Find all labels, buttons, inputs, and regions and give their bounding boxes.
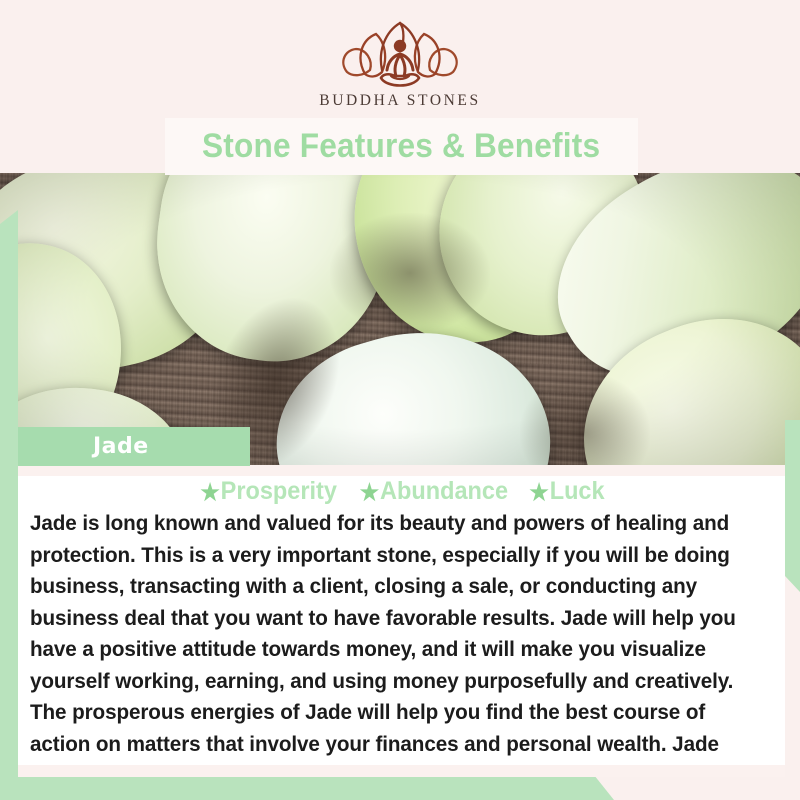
benefit-label-1: Abundance	[380, 477, 508, 505]
stone-name-label: Jade	[93, 434, 149, 459]
decorative-accent-right	[785, 420, 800, 592]
brand-name: BUDDHA STONES	[0, 92, 800, 110]
content-panel: ★Prosperity ★Abundance ★Luck Jade is lon…	[18, 465, 785, 777]
benefits-list: ★Prosperity ★Abundance ★Luck	[18, 477, 785, 506]
benefit-item-1: ★Abundance	[360, 477, 508, 506]
lotus-meditation-icon	[0, 18, 800, 99]
star-icon: ★	[200, 479, 219, 506]
stone-description: Jade is long known and valued for its be…	[30, 508, 762, 777]
decorative-accent-left	[0, 210, 18, 770]
star-icon: ★	[530, 479, 549, 506]
stone-name-badge: Jade	[18, 427, 250, 466]
stone-info-card: BUDDHA STONES Stone Features & Benefits …	[0, 0, 800, 800]
page-title: Stone Features & Benefits	[202, 127, 600, 166]
star-icon: ★	[360, 479, 379, 506]
benefit-item-2: ★Luck	[530, 477, 605, 506]
title-banner: Stone Features & Benefits	[165, 118, 638, 175]
stone-photo	[0, 173, 800, 465]
benefit-item-0: ★Prosperity	[200, 477, 337, 506]
benefit-label-0: Prosperity	[220, 477, 336, 505]
photo-vignette	[0, 173, 800, 465]
benefit-label-2: Luck	[550, 477, 605, 505]
content-top-strip	[18, 465, 785, 476]
content-bottom-strip	[18, 765, 785, 777]
